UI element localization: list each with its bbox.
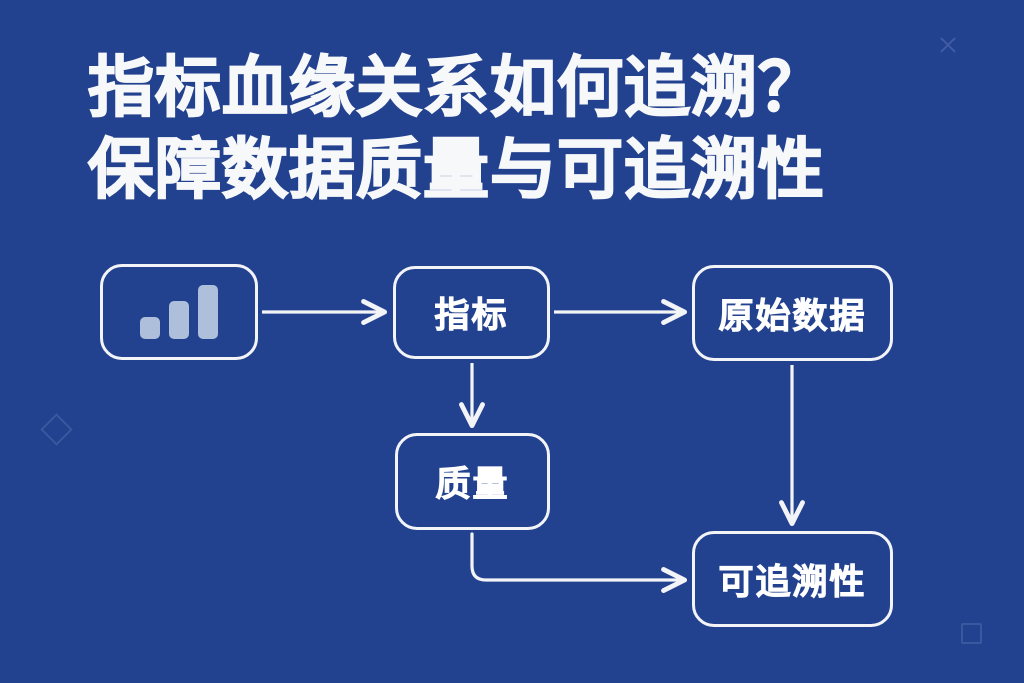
node-quality-label: 质量 bbox=[435, 456, 509, 507]
edge-quality-to-trace bbox=[472, 534, 684, 580]
node-traceability[interactable]: 可追溯性 bbox=[692, 531, 893, 627]
lineage-flowchart: 指标 原始数据 质量 可追溯性 bbox=[0, 0, 1024, 683]
node-metric[interactable]: 指标 bbox=[393, 266, 550, 359]
bar-chart-bar-3 bbox=[198, 285, 218, 339]
node-traceability-label: 可追溯性 bbox=[718, 554, 866, 605]
bar-chart-bar-2 bbox=[169, 301, 189, 339]
node-metric-label: 指标 bbox=[434, 287, 508, 338]
bar-chart-bar-1 bbox=[140, 317, 160, 339]
slide-canvas: 指标血缘关系如何追溯？ 保障数据质量与可追溯性 bbox=[0, 0, 1024, 683]
node-raw-data[interactable]: 原始数据 bbox=[692, 265, 893, 361]
node-quality[interactable]: 质量 bbox=[395, 433, 550, 530]
bar-chart-icon bbox=[140, 285, 218, 339]
node-data-source[interactable] bbox=[100, 264, 258, 360]
node-raw-data-label: 原始数据 bbox=[718, 288, 866, 339]
